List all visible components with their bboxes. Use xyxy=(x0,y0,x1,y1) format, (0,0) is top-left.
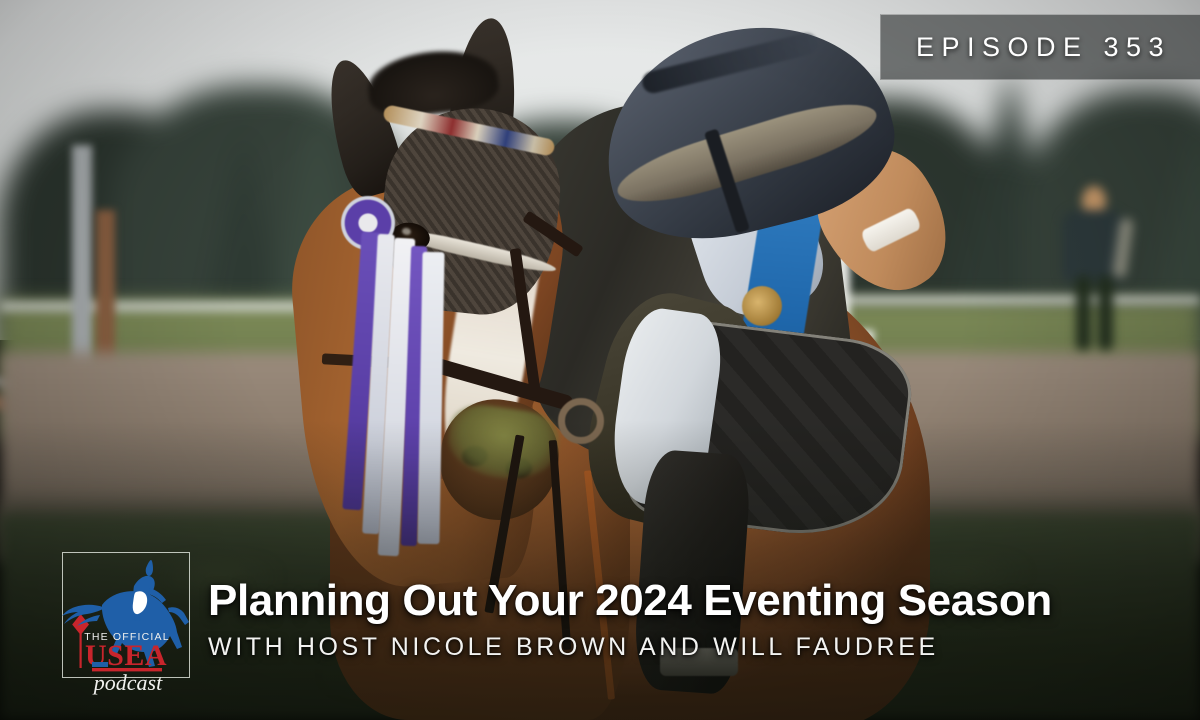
logo-podcast: podcast xyxy=(92,670,163,695)
rider-cap-icon xyxy=(146,560,153,576)
logo-blue-tick xyxy=(92,662,108,667)
episode-banner: EPISODE 353 xyxy=(880,14,1200,80)
episode-number-label: EPISODE 353 xyxy=(910,32,1171,63)
episode-title: Planning Out Your 2024 Eventing Season xyxy=(208,578,1168,624)
podcast-cover-art: EPISODE 353 Planning Out Your 2024 Event… xyxy=(0,0,1200,720)
usea-podcast-logo: THE OFFICIAL USEA podcast xyxy=(56,548,198,696)
title-block: Planning Out Your 2024 Eventing Season W… xyxy=(208,578,1168,662)
logo-usea: USEA xyxy=(85,639,167,672)
episode-subtitle: WITH HOST NICOLE BROWN AND WILL FAUDREE xyxy=(208,633,1168,662)
logo-artwork: THE OFFICIAL USEA podcast xyxy=(56,548,198,696)
